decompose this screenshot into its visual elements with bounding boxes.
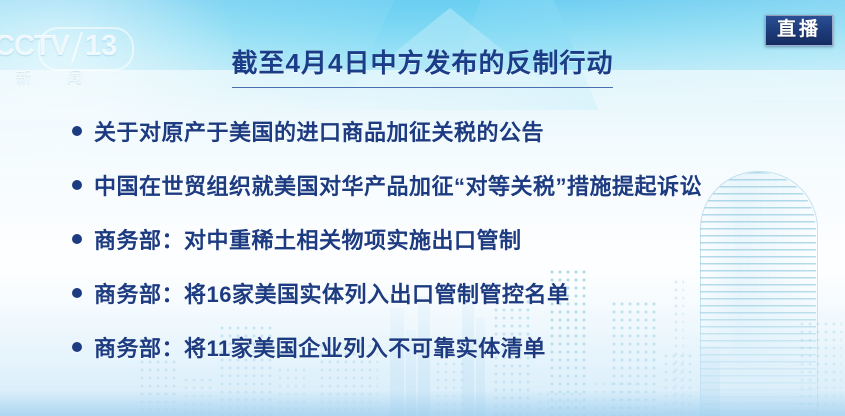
bullet-icon xyxy=(72,126,82,136)
bullet-icon xyxy=(72,234,82,244)
list-item-label: 商务部：将16家美国实体列入出口管制管控名单 xyxy=(94,277,569,309)
list-item-label: 中国在世贸组织就美国对华产品加征“对等关税”措施提起诉讼 xyxy=(94,169,702,201)
list-item: 中国在世贸组织就美国对华产品加征“对等关税”措施提起诉讼 xyxy=(72,158,815,212)
background-bottom-band xyxy=(0,390,845,416)
bullet-icon xyxy=(72,288,82,298)
bullet-icon xyxy=(72,342,82,352)
page-title: 截至4月4日中方发布的反制行动 xyxy=(232,43,614,88)
broadcast-graphic-screen: CCTV 13 新 闻 直播 截至4月4日中方发布的反制行动 关于对原产于美国的… xyxy=(0,0,845,416)
list-item: 关于对原产于美国的进口商品加征关税的公告 xyxy=(72,104,815,158)
list-item-label: 商务部：将11家美国企业列入不可靠实体清单 xyxy=(94,331,546,363)
list-item: 商务部：对中重稀土相关物项实施出口管制 xyxy=(72,212,815,266)
list-item: 商务部：将11家美国企业列入不可靠实体清单 xyxy=(72,320,815,374)
list-item-label: 关于对原产于美国的进口商品加征关税的公告 xyxy=(94,115,544,147)
list-item-label: 商务部：对中重稀土相关物项实施出口管制 xyxy=(94,223,522,255)
bullet-icon xyxy=(72,180,82,190)
list-item: 商务部：将16家美国实体列入出口管制管控名单 xyxy=(72,266,815,320)
measures-list: 关于对原产于美国的进口商品加征关税的公告 中国在世贸组织就美国对华产品加征“对等… xyxy=(72,104,815,374)
headline-container: 截至4月4日中方发布的反制行动 xyxy=(0,43,845,88)
live-badge: 直播 xyxy=(765,15,833,46)
